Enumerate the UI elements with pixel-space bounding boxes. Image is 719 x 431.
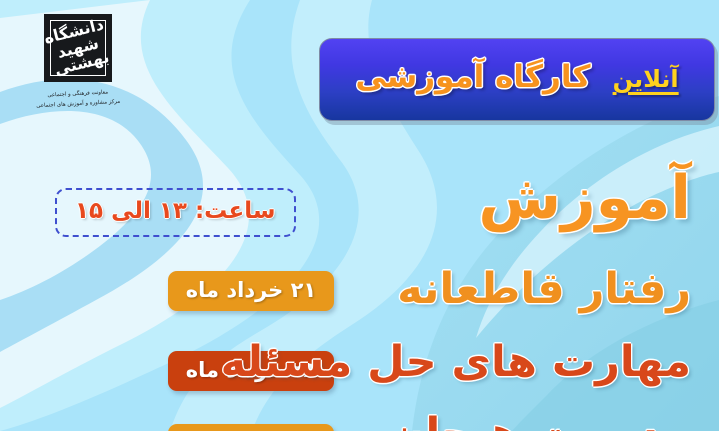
- header-banner: آنلاین کارگاه آموزشی: [319, 38, 715, 121]
- topic-heading-1: رفتار قاطعانه: [397, 267, 691, 312]
- date-badge-1: ۲۱ خرداد ماه: [168, 271, 334, 311]
- time-badge-label: ساعت: ۱۳ الی ۱۵: [75, 199, 276, 224]
- university-logo: دانشگاه شهید بهشتی معاونت فرهنگی و اجتما…: [18, 8, 138, 126]
- topic-heading-0: آموزش: [478, 167, 691, 230]
- time-badge: ساعت: ۱۳ الی ۱۵: [55, 188, 296, 237]
- header-subtitle-online: آنلاین: [613, 66, 679, 94]
- topic-heading-2: مهارت های حل مسئله: [221, 340, 691, 385]
- header-title: کارگاه آموزشی: [355, 60, 590, 94]
- poster-canvas: دانشگاه شهید بهشتی معاونت فرهنگی و اجتما…: [0, 0, 719, 431]
- logo-mark: دانشگاه شهید بهشتی: [44, 14, 112, 82]
- logo-caption: معاونت فرهنگی و اجتماعی مرکز مشاوره و آم…: [18, 86, 139, 112]
- date-badge-1-label: ۲۱ خرداد ماه: [186, 279, 317, 302]
- topic-heading-3: مدیریت هیجان: [389, 412, 691, 431]
- header-banner-content: آنلاین کارگاه آموزشی: [339, 60, 694, 98]
- date-badge-3: ۴ تیر ماه: [168, 424, 334, 431]
